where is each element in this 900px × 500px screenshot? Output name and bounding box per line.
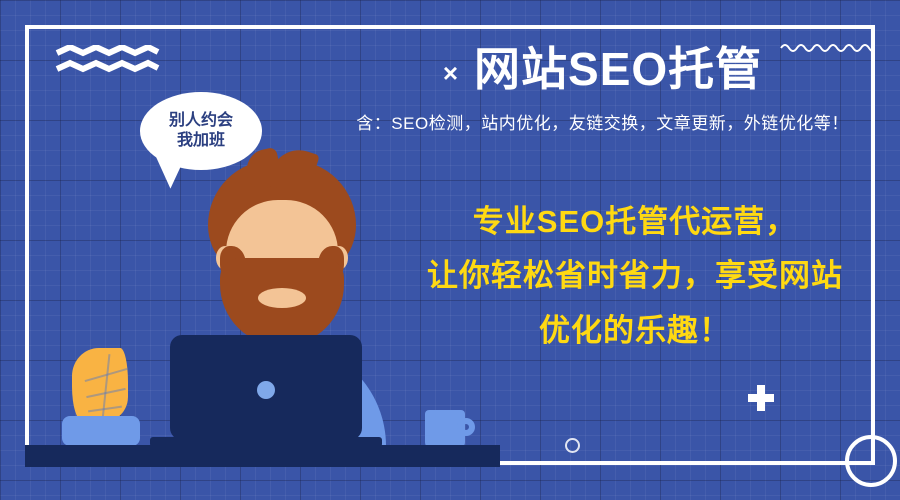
slogan-line-2: 让你轻松省时省力，享受网站	[390, 249, 880, 303]
seo-promo-banner: × 网站SEO托管 含：SEO检测，站内优化，友链交换，文章更新，外链优化等！ …	[0, 0, 900, 500]
plant-pot	[62, 416, 140, 446]
desk-surface	[25, 445, 500, 467]
headline-block: × 网站SEO托管 含：SEO检测，站内优化，友链交换，文章更新，外链优化等！	[330, 44, 875, 134]
title-row: × 网站SEO托管	[330, 44, 875, 95]
laptop-logo-icon	[257, 381, 275, 399]
circle-outline-icon	[565, 438, 580, 453]
speech-bubble-line-2: 我加班	[177, 131, 225, 151]
speech-bubble-text: 别人约会 我加班	[140, 92, 262, 170]
potted-plant	[62, 348, 140, 448]
slogan-line-1: 专业SEO托管代运营，	[390, 195, 880, 249]
slogan-block: 专业SEO托管代运营， 让你轻松省时省力，享受网站 优化的乐趣！	[390, 195, 880, 358]
coffee-mug	[425, 410, 477, 450]
plant-leaf	[72, 348, 128, 422]
subtitle-text: 含：SEO检测，站内优化，友链交换，文章更新，外链优化等！	[330, 109, 875, 134]
wave-lines-icon	[55, 45, 160, 77]
mug-handle	[457, 418, 475, 436]
laptop	[170, 335, 362, 440]
corner-circle-icon	[845, 435, 897, 487]
plus-mark-icon	[748, 385, 774, 411]
slogan-line-3: 优化的乐趣！	[390, 304, 880, 358]
speech-bubble: 别人约会 我加班	[140, 92, 262, 170]
x-mark-icon: ×	[443, 60, 458, 86]
character-mouth	[258, 288, 306, 308]
plant-vein-3	[88, 406, 122, 413]
speech-bubble-line-1: 别人约会	[169, 111, 233, 131]
page-title: 网站SEO托管	[474, 44, 762, 95]
